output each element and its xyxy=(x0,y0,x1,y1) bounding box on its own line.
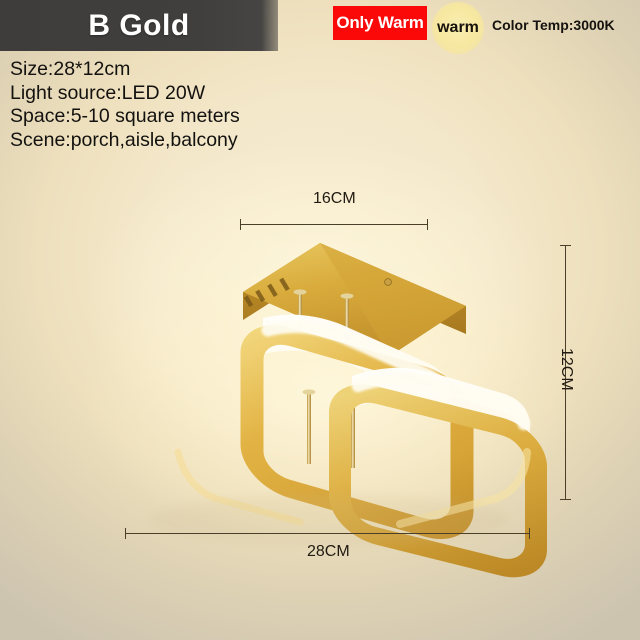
dimension-line-top xyxy=(240,224,428,225)
only-warm-label: Only Warm xyxy=(336,13,423,33)
variant-title-bar: B Gold xyxy=(0,0,278,51)
color-temperature-label: Color Temp:3000K xyxy=(492,17,615,33)
spec-scene: Scene:porch,aisle,balcony xyxy=(10,129,240,153)
dimension-line-bottom xyxy=(125,533,530,534)
variant-title: B Gold xyxy=(88,9,189,43)
spec-size: Size:28*12cm xyxy=(10,58,240,82)
spec-light-source: Light source:LED 20W xyxy=(10,82,240,106)
only-warm-badge: Only Warm xyxy=(333,6,427,40)
warm-swatch-label: warm xyxy=(437,19,479,37)
spec-space: Space:5-10 square meters xyxy=(10,105,240,129)
dimension-label-right: 12CM xyxy=(557,348,575,391)
warm-color-swatch: warm xyxy=(432,2,484,54)
product-image: B Gold Only Warm warm Color Temp:3000K S… xyxy=(0,0,640,640)
specification-list: Size:28*12cm Light source:LED 20W Space:… xyxy=(10,58,240,152)
dimension-label-top: 16CM xyxy=(313,190,356,208)
dimension-label-bottom: 28CM xyxy=(307,543,350,561)
